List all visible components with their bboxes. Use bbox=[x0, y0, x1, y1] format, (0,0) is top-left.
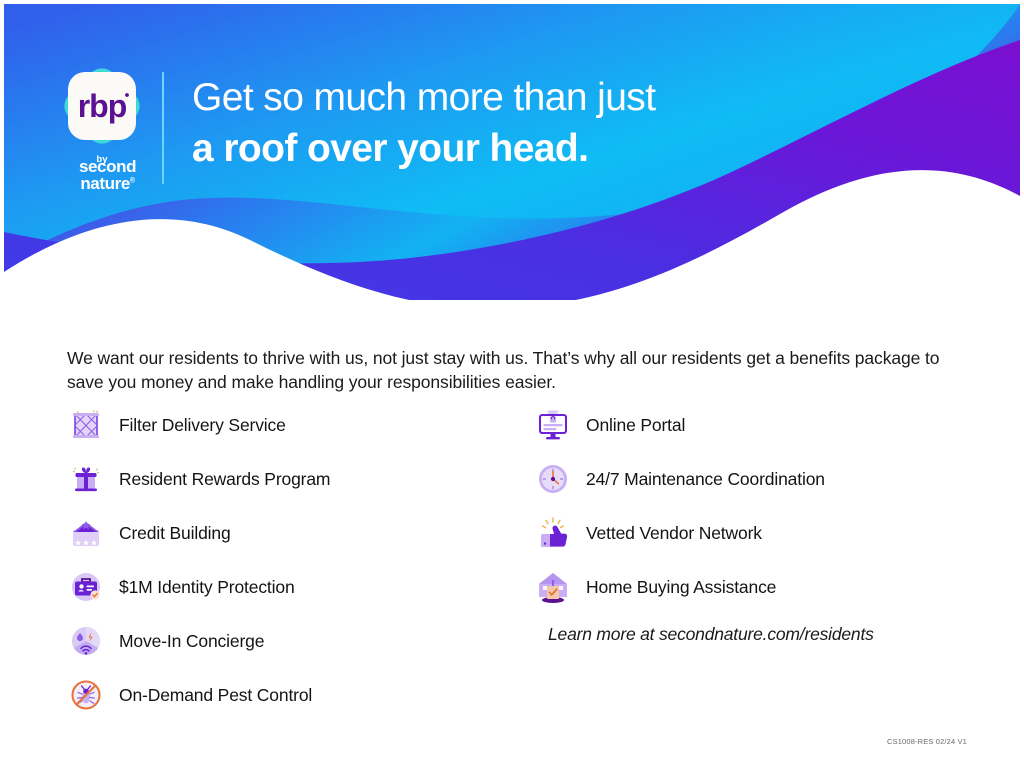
benefit-item-vetted-vendor-network: Vetted Vendor Network bbox=[534, 506, 1004, 560]
benefit-label: Vetted Vendor Network bbox=[586, 523, 762, 544]
benefit-label: Online Portal bbox=[586, 415, 685, 436]
benefit-item-pest-control: On-Demand Pest Control bbox=[67, 668, 527, 722]
headline-line-2: a roof over your head. bbox=[192, 125, 972, 173]
registered-mark: ® bbox=[130, 178, 135, 185]
benefit-item-home-buying-assistance: Home Buying Assistance bbox=[534, 560, 1004, 614]
benefit-label: 24/7 Maintenance Coordination bbox=[586, 469, 825, 490]
monitor-icon bbox=[534, 406, 572, 444]
benefit-item-identity-protection: $1M Identity Protection bbox=[67, 560, 527, 614]
benefit-label: On-Demand Pest Control bbox=[119, 685, 312, 706]
rbp-logo-mark: rbp bbox=[58, 62, 146, 150]
logo-headline-divider bbox=[162, 72, 164, 184]
flyer-page: rbp by second nature® Get so much more t… bbox=[0, 0, 1024, 768]
credit-badge-icon bbox=[67, 514, 105, 552]
clock-icon bbox=[534, 460, 572, 498]
gift-box-icon bbox=[67, 460, 105, 498]
air-filter-icon bbox=[67, 406, 105, 444]
rbp-logo: rbp by second nature® bbox=[52, 62, 152, 187]
benefit-label: Move-In Concierge bbox=[119, 631, 264, 652]
benefit-label: Home Buying Assistance bbox=[586, 577, 776, 598]
benefit-item-filter-delivery-service: Filter Delivery Service bbox=[67, 398, 527, 452]
logo-company-name: second nature® bbox=[52, 158, 152, 193]
benefit-item-online-portal: Online Portal bbox=[534, 398, 1004, 452]
thumbs-up-icon bbox=[534, 514, 572, 552]
utilities-circle-icon bbox=[67, 622, 105, 660]
benefit-label: Filter Delivery Service bbox=[119, 415, 286, 436]
hero-headline: Get so much more than just a roof over y… bbox=[192, 74, 972, 174]
no-pest-icon bbox=[67, 676, 105, 714]
benefits-column-right: Online Portal 24/7 Mai bbox=[534, 398, 1004, 645]
house-icon bbox=[534, 568, 572, 606]
rbp-badge-icon: rbp bbox=[58, 62, 146, 150]
svg-text:rbp: rbp bbox=[78, 88, 127, 124]
benefit-item-move-in-concierge: Move-In Concierge bbox=[67, 614, 527, 668]
benefit-item-maintenance-coordination: 24/7 Maintenance Coordination bbox=[534, 452, 1004, 506]
benefit-label: Resident Rewards Program bbox=[119, 469, 330, 490]
id-briefcase-icon bbox=[67, 568, 105, 606]
intro-paragraph: We want our residents to thrive with us,… bbox=[67, 346, 947, 396]
logo-byline: by second nature® bbox=[52, 150, 152, 193]
benefit-item-resident-rewards-program: Resident Rewards Program bbox=[67, 452, 527, 506]
benefit-label: Credit Building bbox=[119, 523, 231, 544]
footer-document-code: CS1008-RES 02/24 V1 bbox=[887, 737, 967, 746]
benefits-column-left: Filter Delivery Service Resident Rewards… bbox=[67, 398, 527, 722]
benefit-label: $1M Identity Protection bbox=[119, 577, 295, 598]
headline-line-1: Get so much more than just bbox=[192, 74, 972, 122]
learn-more-cta[interactable]: Learn more at secondnature.com/residents bbox=[534, 624, 1004, 645]
benefit-item-credit-building: Credit Building bbox=[67, 506, 527, 560]
